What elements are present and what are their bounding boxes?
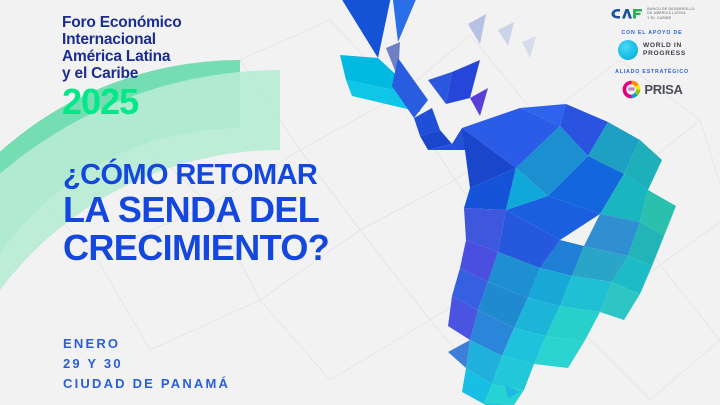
date-venue-block: ENERO 29 Y 30 CIUDAD DE PANAMÁ bbox=[63, 334, 230, 394]
forum-name: Foro Económico Internacional América Lat… bbox=[62, 14, 292, 82]
forum-year: 2025 bbox=[62, 85, 292, 119]
sponsor-caf: BANCO DE DESARROLLO DE AMÉRICA LATINA Y … bbox=[594, 6, 710, 21]
headline-line-1: ¿CÓMO RETOMAR bbox=[63, 161, 423, 190]
event-month: ENERO bbox=[63, 334, 230, 354]
sponsor-prisa: ALIADO ESTRATÉGICO PRISA bbox=[594, 69, 710, 100]
world-in-progress-lockup: WORLD IN PROGRESS bbox=[594, 40, 710, 60]
caf-lockup: BANCO DE DESARROLLO DE AMÉRICA LATINA Y … bbox=[594, 6, 710, 21]
world-in-progress-wordmark: WORLD IN PROGRESS bbox=[643, 42, 686, 58]
sponsor-world-in-progress: CON EL APOYO DE WORLD IN PROGRESS bbox=[594, 30, 710, 60]
prisa-logo-icon bbox=[621, 79, 642, 100]
event-city: CIUDAD DE PANAMÁ bbox=[63, 374, 230, 394]
caf-logo-icon bbox=[609, 6, 643, 21]
sponsor-label-aliado: ALIADO ESTRATÉGICO bbox=[594, 69, 710, 75]
event-poster: Foro Económico Internacional América Lat… bbox=[0, 0, 720, 405]
event-days: 29 Y 30 bbox=[63, 354, 230, 374]
prisa-lockup: PRISA bbox=[594, 79, 710, 100]
headline-line-2: LA SENDA DEL bbox=[63, 192, 423, 228]
event-title-block: Foro Económico Internacional América Lat… bbox=[62, 14, 292, 119]
world-in-progress-circle-icon bbox=[618, 40, 638, 60]
caf-tagline: BANCO DE DESARROLLO DE AMÉRICA LATINA Y … bbox=[647, 7, 695, 21]
headline-block: ¿CÓMO RETOMAR LA SENDA DEL CRECIMIENTO? bbox=[63, 161, 423, 266]
prisa-wordmark: PRISA bbox=[644, 82, 682, 97]
headline-line-3: CRECIMIENTO? bbox=[63, 230, 423, 266]
sponsor-rail: BANCO DE DESARROLLO DE AMÉRICA LATINA Y … bbox=[594, 6, 710, 109]
sponsor-label-apoyo: CON EL APOYO DE bbox=[594, 30, 710, 36]
